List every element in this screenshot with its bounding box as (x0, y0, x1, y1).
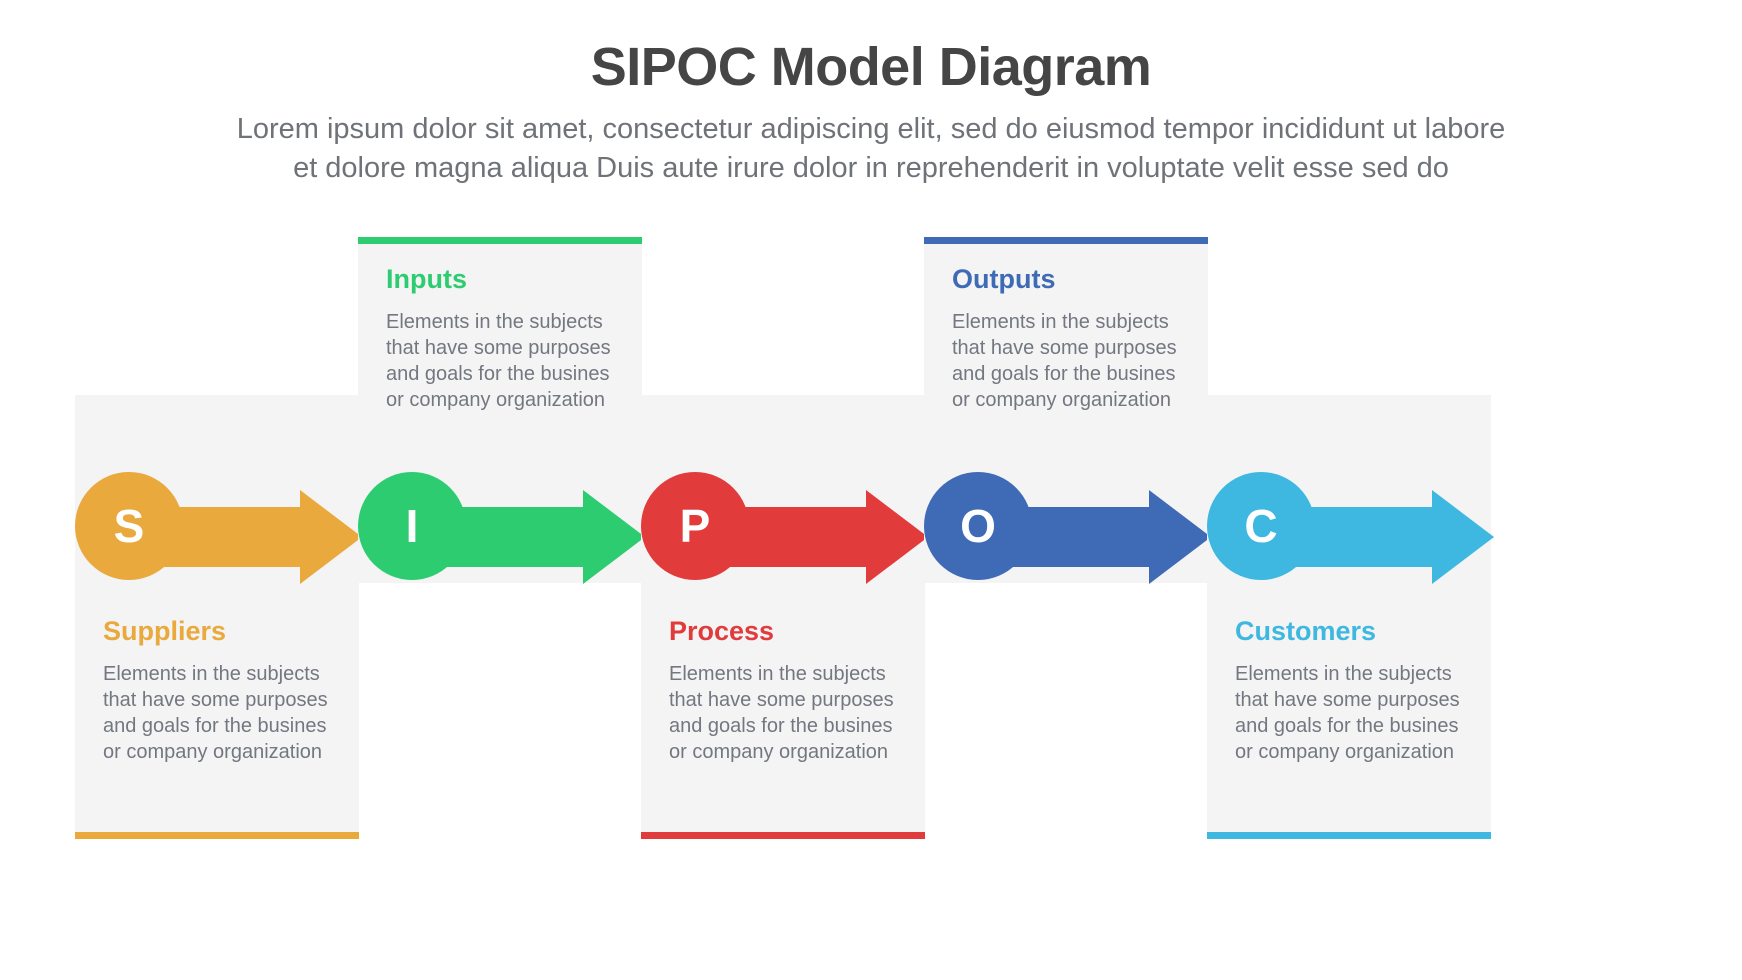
panel-title-process: Process (669, 617, 915, 647)
sipoc-diagram: SuppliersElements in the subjects that h… (0, 225, 1742, 825)
page-title: SIPOC Model Diagram (0, 0, 1742, 98)
header: SIPOC Model Diagram Lorem ipsum dolor si… (0, 0, 1742, 188)
stage-letter-suppliers: S (114, 503, 145, 549)
panel-description-inputs: Elements in the subjects that have some … (386, 309, 632, 414)
stage-letter-inputs: I (406, 503, 419, 549)
panel-title-outputs: Outputs (952, 265, 1198, 295)
flow-unit-inputs: I (358, 472, 648, 602)
stage-panel-customers: CustomersElements in the subjects that h… (1207, 395, 1491, 839)
accent-bar-process (641, 832, 925, 839)
page-subtitle-line-2: et dolore magna aliqua Duis aute irure d… (121, 149, 1621, 188)
stage-circle-suppliers: S (75, 472, 183, 580)
panel-body-suppliers: SuppliersElements in the subjects that h… (103, 617, 349, 765)
accent-bar-customers (1207, 832, 1491, 839)
accent-bar-inputs (358, 237, 642, 244)
stage-letter-outputs: O (960, 503, 996, 549)
panel-title-customers: Customers (1235, 617, 1481, 647)
panel-description-customers: Elements in the subjects that have some … (1235, 661, 1481, 766)
panel-body-inputs: InputsElements in the subjects that have… (386, 265, 632, 413)
stage-letter-process: P (680, 503, 711, 549)
panel-title-suppliers: Suppliers (103, 617, 349, 647)
stage-letter-customers: C (1244, 503, 1277, 549)
panel-description-process: Elements in the subjects that have some … (669, 661, 915, 766)
stage-panel-suppliers: SuppliersElements in the subjects that h… (75, 395, 359, 839)
page-subtitle-line-1: Lorem ipsum dolor sit amet, consectetur … (121, 110, 1621, 149)
page-subtitle: Lorem ipsum dolor sit amet, consectetur … (121, 98, 1621, 188)
stage-circle-customers: C (1207, 472, 1315, 580)
stage-circle-inputs: I (358, 472, 466, 580)
panel-description-suppliers: Elements in the subjects that have some … (103, 661, 349, 766)
panel-title-inputs: Inputs (386, 265, 632, 295)
flow-unit-customers: C (1207, 472, 1497, 602)
panel-body-outputs: OutputsElements in the subjects that hav… (952, 265, 1198, 413)
accent-bar-outputs (924, 237, 1208, 244)
stage-panel-process: ProcessElements in the subjects that hav… (641, 395, 925, 839)
flow-unit-process: P (641, 472, 931, 602)
panel-description-outputs: Elements in the subjects that have some … (952, 309, 1198, 414)
stage-circle-process: P (641, 472, 749, 580)
stage-circle-outputs: O (924, 472, 1032, 580)
panel-body-process: ProcessElements in the subjects that hav… (669, 617, 915, 765)
flow-unit-outputs: O (924, 472, 1214, 602)
accent-bar-suppliers (75, 832, 359, 839)
flow-unit-suppliers: S (75, 472, 365, 602)
panel-body-customers: CustomersElements in the subjects that h… (1235, 617, 1481, 765)
